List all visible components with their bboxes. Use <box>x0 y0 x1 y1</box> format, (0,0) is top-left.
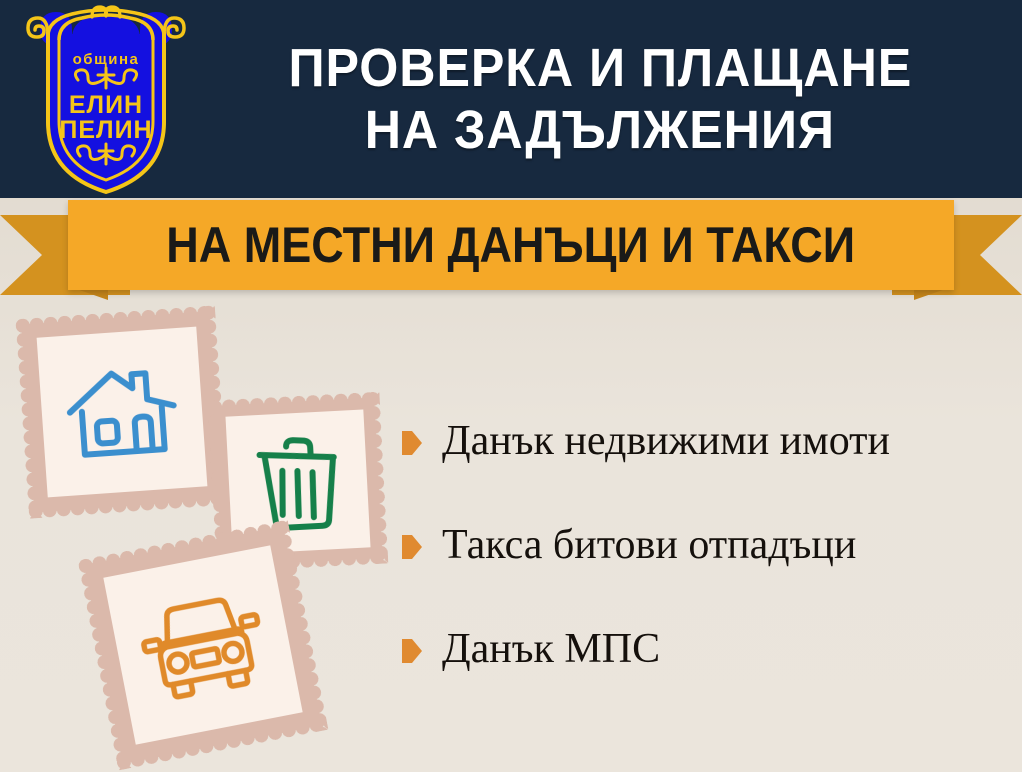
trash-bin-icon <box>247 428 348 537</box>
tax-types-list: Данък недвижими имоти Такса битови отпад… <box>402 418 1012 730</box>
arrow-bullet-icon <box>402 431 422 455</box>
poster-title: ПРОВЕРКА И ПЛАЩАНЕ НА ЗАДЪЛЖЕНИЯ <box>190 14 1010 184</box>
list-item[interactable]: Данък недвижими имоти <box>402 418 1012 464</box>
coat-of-arms: община ЕЛИН ПЕЛИН <box>22 4 190 194</box>
header-bar: община ЕЛИН ПЕЛИН <box>0 0 1022 198</box>
stamp-paper <box>103 545 302 744</box>
title-line-1: ПРОВЕРКА И ПЛАЩАНЕ <box>288 37 912 99</box>
ribbon-text: НА МЕСТНИ ДАНЪЦИ И ТАКСИ <box>167 219 856 271</box>
poster-canvas: община ЕЛИН ПЕЛИН <box>0 0 1022 772</box>
list-item-label: Данък МПС <box>442 626 660 672</box>
svg-text:ПЕЛИН: ПЕЛИН <box>59 116 152 144</box>
svg-text:ЕЛИН: ЕЛИН <box>69 91 143 119</box>
arrow-bullet-icon <box>402 535 422 559</box>
stamp-paper <box>37 327 208 498</box>
ribbon-banner: НА МЕСТНИ ДАНЪЦИ И ТАКСИ <box>68 200 954 290</box>
svg-text:община: община <box>73 51 140 68</box>
stamp-vehicle <box>78 520 329 771</box>
title-line-2: НА ЗАДЪЛЖЕНИЯ <box>365 99 835 161</box>
list-item[interactable]: Данък МПС <box>402 626 1012 672</box>
list-item-label: Такса битови отпадъци <box>442 522 856 568</box>
stamp-real-estate <box>15 305 228 518</box>
list-item[interactable]: Такса битови отпадъци <box>402 522 1012 568</box>
house-icon <box>59 356 186 468</box>
coat-of-arms-svg: община ЕЛИН ПЕЛИН <box>22 4 190 194</box>
car-front-icon <box>134 584 273 705</box>
arrow-bullet-icon <box>402 639 422 663</box>
subtitle-ribbon: НА МЕСТНИ ДАНЪЦИ И ТАКСИ <box>0 198 1022 298</box>
list-item-label: Данък недвижими имоти <box>442 418 890 464</box>
